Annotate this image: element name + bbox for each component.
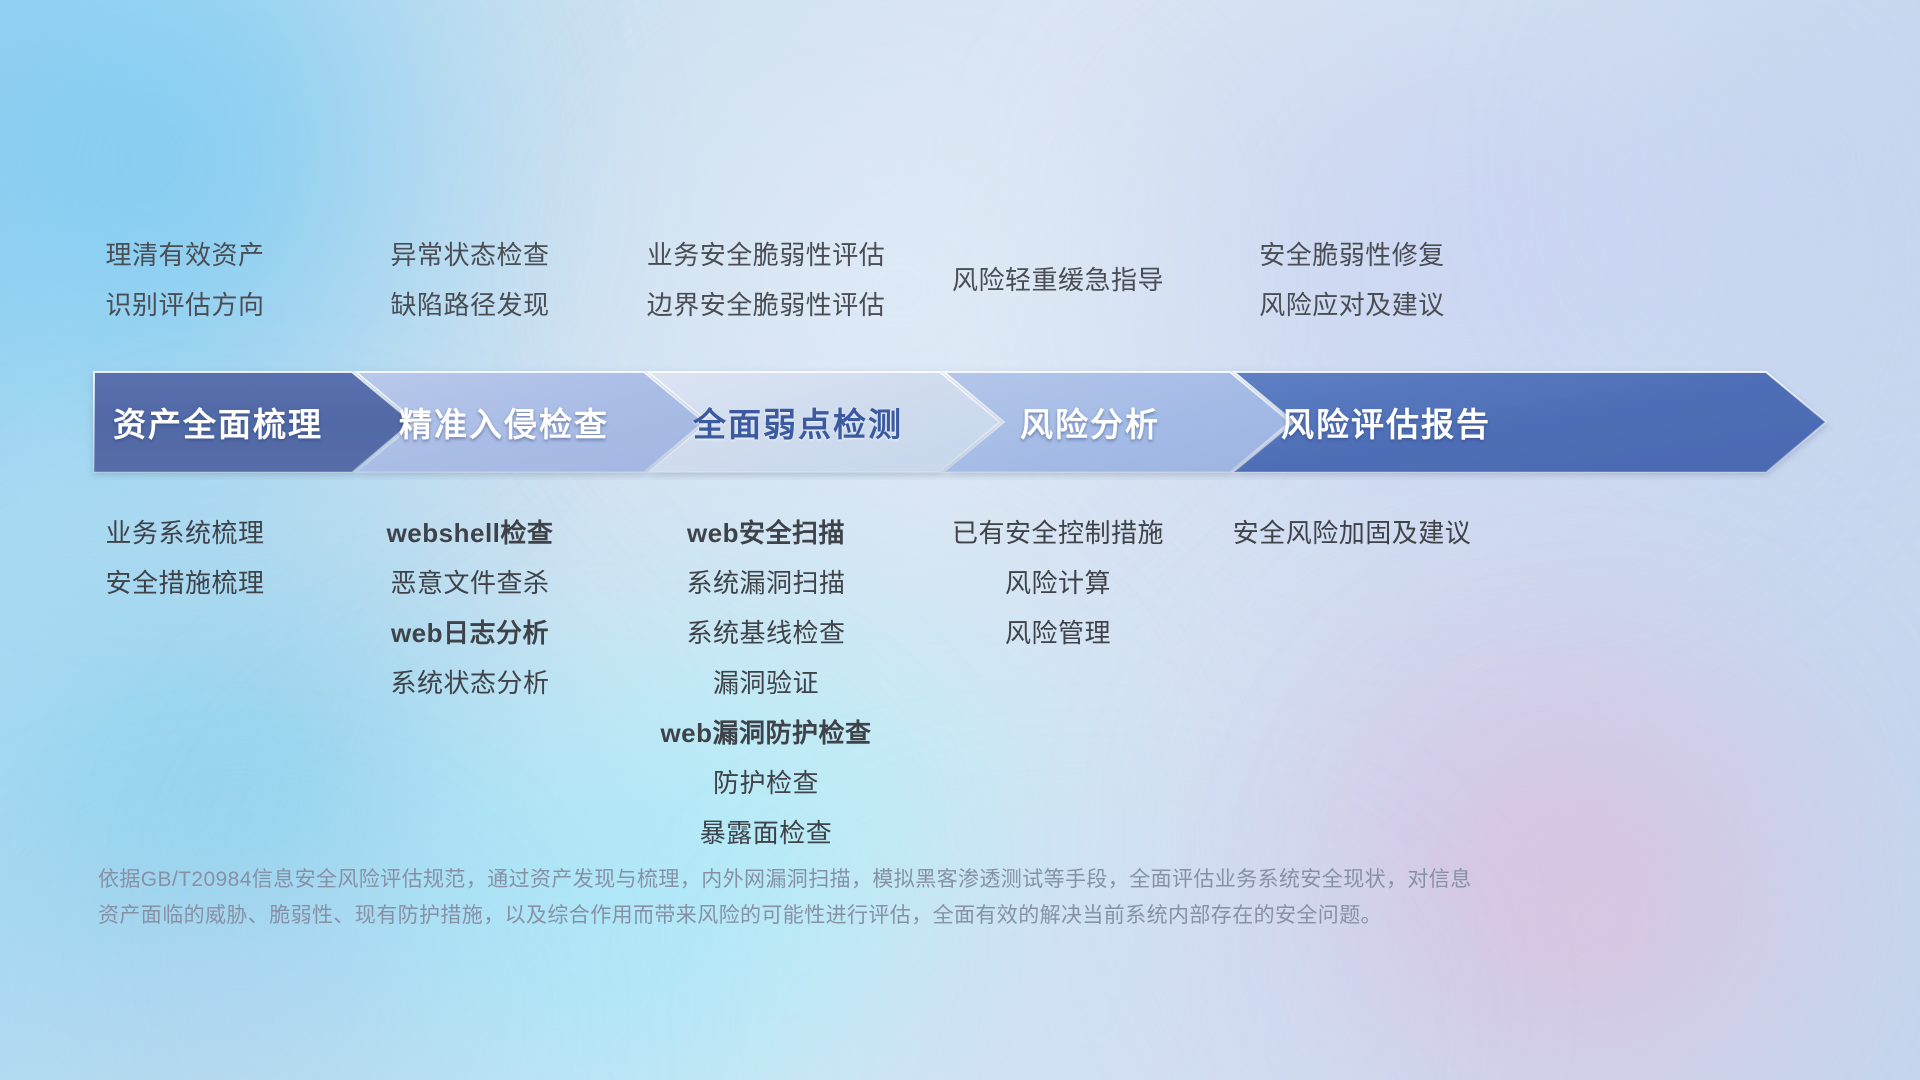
footer-line-1: 依据GB/T20984信息安全风险评估规范，通过资产发现与梳理，内外网漏洞扫描，… [98,862,1598,898]
top-text-column-2: 异常状态检查 缺陷路径发现 [390,230,549,330]
process-diagram: 理清有效资产 识别评估方向 异常状态检查 缺陷路径发现 业务安全脆弱性评估 边界… [0,0,1920,1080]
bottom-line: web日志分析 [387,608,554,658]
bottom-line: web漏洞防护检查 [660,708,871,758]
bottom-text-column-2: webshell检查 恶意文件查杀 web日志分析 系统状态分析 [387,508,554,708]
top-text-column-5: 安全脆弱性修复 风险应对及建议 [1259,230,1445,330]
top-line: 识别评估方向 [105,280,264,330]
footer-description: 依据GB/T20984信息安全风险评估规范，通过资产发现与梳理，内外网漏洞扫描，… [98,862,1598,934]
bottom-line: 系统状态分析 [387,658,554,708]
bottom-line: 系统基线检查 [660,608,871,658]
top-line: 风险轻重缓急指导 [952,255,1164,305]
top-line: 业务安全脆弱性评估 [647,230,886,280]
bottom-line: web安全扫描 [660,508,871,558]
top-line: 缺陷路径发现 [390,280,549,330]
top-line: 理清有效资产 [105,230,264,280]
top-text-column-4: 风险轻重缓急指导 [952,255,1164,305]
bottom-line: 风险管理 [952,608,1164,658]
bottom-line: 风险计算 [952,558,1164,608]
footer-line-2: 资产面临的威胁、脆弱性、现有防护措施，以及综合作用而带来风险的可能性进行评估，全… [98,898,1598,934]
bottom-text-column-1: 业务系统梳理 安全措施梳理 [105,508,264,608]
top-line: 异常状态检查 [390,230,549,280]
bottom-line: 系统漏洞扫描 [660,558,871,608]
bottom-text-column-5: 安全风险加固及建议 [1233,508,1472,558]
stage-banner: 资产全面梳理 精准入侵检查 全面弱点检测 风险分析 风险评估报告 [0,364,1920,480]
top-line: 安全脆弱性修复 [1259,230,1445,280]
top-text-column-1: 理清有效资产 识别评估方向 [105,230,264,330]
bottom-line: webshell检查 [387,508,554,558]
bottom-text-column-4: 已有安全控制措施 风险计算 风险管理 [952,508,1164,658]
bottom-line: 漏洞验证 [660,658,871,708]
bottom-line: 防护检查 [660,758,871,808]
bottom-line: 业务系统梳理 [105,508,264,558]
bottom-line: 暴露面检查 [660,808,871,858]
bottom-line: 已有安全控制措施 [952,508,1164,558]
bottom-line: 安全风险加固及建议 [1233,508,1472,558]
bottom-line: 恶意文件查杀 [387,558,554,608]
top-line: 边界安全脆弱性评估 [647,280,886,330]
top-text-column-3: 业务安全脆弱性评估 边界安全脆弱性评估 [647,230,886,330]
bottom-text-column-3: web安全扫描 系统漏洞扫描 系统基线检查 漏洞验证 web漏洞防护检查 防护检… [660,508,871,858]
top-line: 风险应对及建议 [1259,280,1445,330]
bottom-line: 安全措施梳理 [105,558,264,608]
